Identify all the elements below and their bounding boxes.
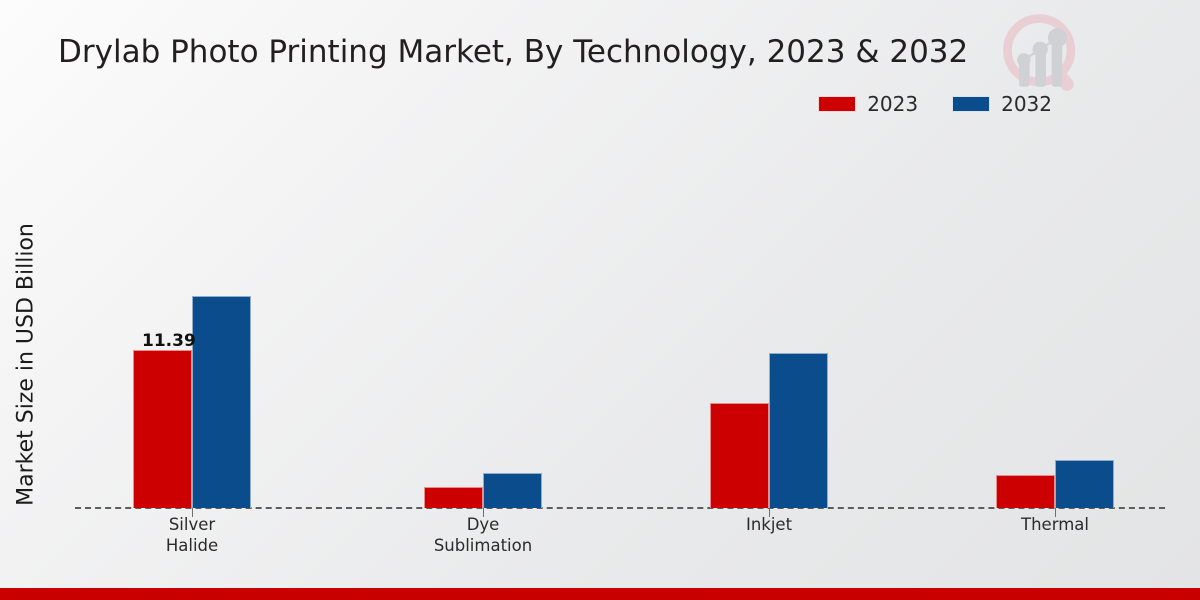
bottom-accent-band xyxy=(0,588,1200,600)
x-axis-label-silver-halide-line2: Halide xyxy=(92,535,292,556)
bar-dye-sublimation-2023[interactable] xyxy=(424,487,483,508)
x-axis-label-dye-sublimation-line2: Sublimation xyxy=(383,535,583,556)
x-axis-label-inkjet-line1: Inkjet xyxy=(669,514,869,535)
x-axis-label-thermal: Thermal xyxy=(955,514,1155,535)
bar-inkjet-2032[interactable] xyxy=(769,353,828,508)
plot-area: 11.39 Silver Halide Dye Sublimation Inkj… xyxy=(0,0,1200,600)
chart-canvas: Drylab Photo Printing Market, By Technol… xyxy=(0,0,1200,600)
bar-value-label-silver-halide-2023: 11.39 xyxy=(142,331,196,351)
x-axis-label-dye-sublimation-line1: Dye xyxy=(383,514,583,535)
x-axis-label-thermal-line1: Thermal xyxy=(955,514,1155,535)
x-axis-label-silver-halide: Silver Halide xyxy=(92,514,292,556)
bar-silver-halide-2032[interactable] xyxy=(192,296,251,508)
x-axis-label-inkjet: Inkjet xyxy=(669,514,869,535)
bar-thermal-2023[interactable] xyxy=(996,475,1055,508)
x-axis-label-dye-sublimation: Dye Sublimation xyxy=(383,514,583,556)
bar-dye-sublimation-2032[interactable] xyxy=(483,473,542,508)
bar-silver-halide-2023[interactable] xyxy=(133,350,192,508)
x-axis-label-silver-halide-line1: Silver xyxy=(92,514,292,535)
bar-inkjet-2023[interactable] xyxy=(710,403,769,508)
bar-thermal-2032[interactable] xyxy=(1055,460,1114,508)
